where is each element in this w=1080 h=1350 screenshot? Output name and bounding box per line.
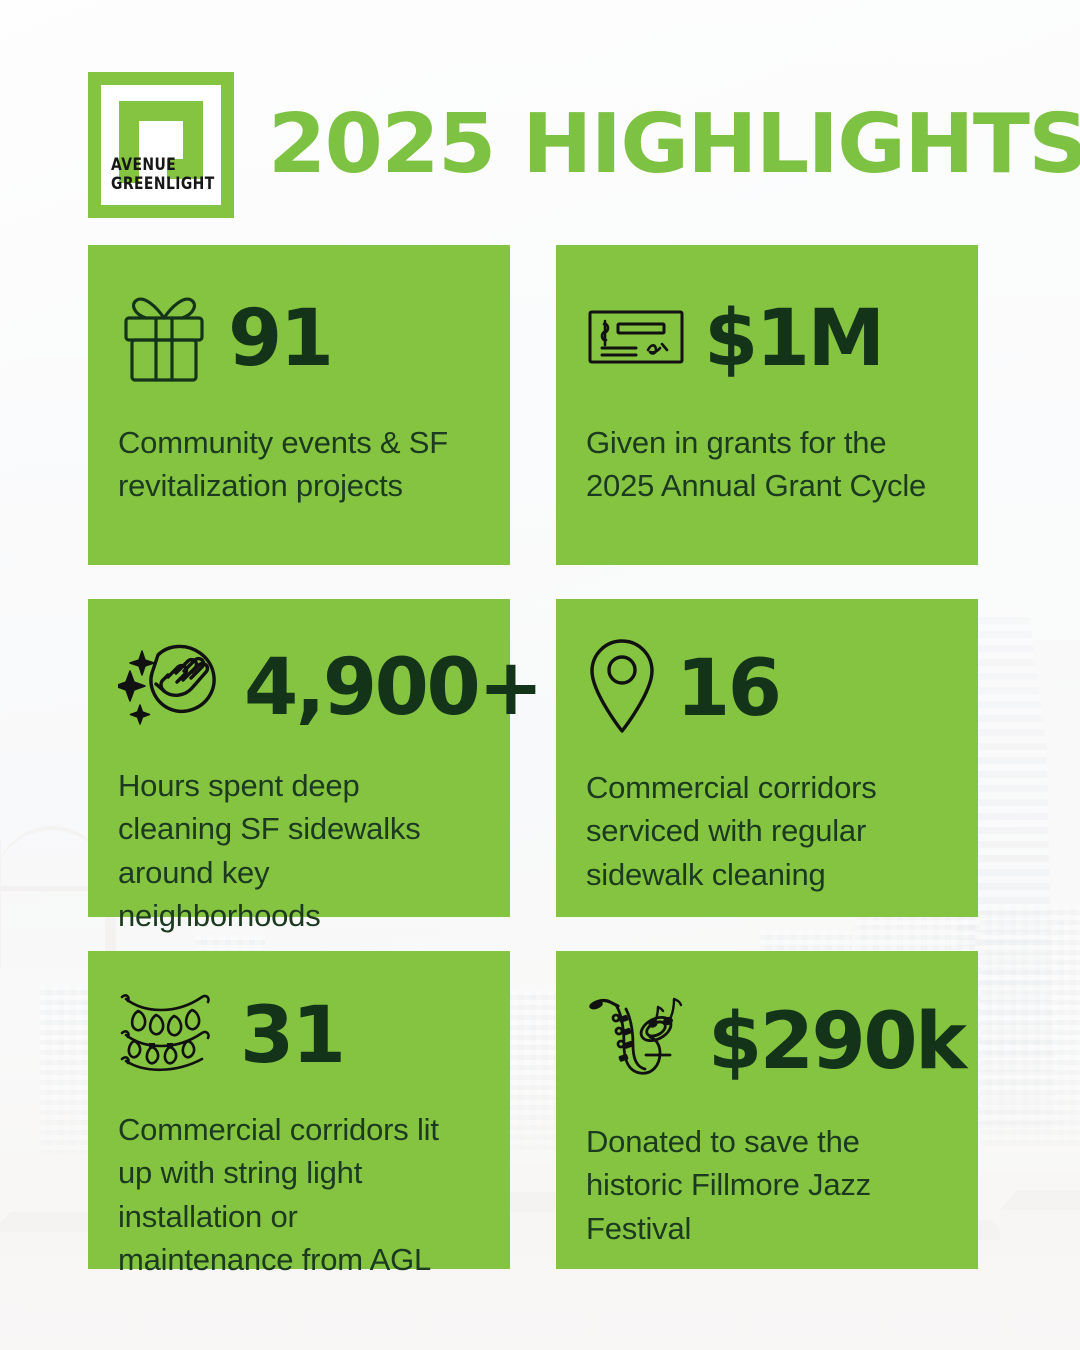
stat-value: $290k bbox=[708, 1003, 964, 1081]
stat-row: 31 bbox=[118, 989, 476, 1082]
stat-card-string-lights[interactable]: 31 Commercial corridors lit up with stri… bbox=[88, 951, 510, 1269]
logo-wordmark: AVENUE GREENLIGHT bbox=[111, 156, 196, 194]
stat-card-grants[interactable]: $1M Given in grants for the 2025 Annual … bbox=[556, 245, 978, 565]
logo-line-1: AVENUE bbox=[111, 156, 196, 175]
stat-description: Given in grants for the 2025 Annual Gran… bbox=[586, 421, 944, 508]
stats-grid: 91 Community events & SF revitalization … bbox=[88, 245, 978, 1269]
stat-description: Hours spent deep cleaning SF sidewalks a… bbox=[118, 764, 476, 938]
stat-card-events[interactable]: 91 Community events & SF revitalization … bbox=[88, 245, 510, 565]
stat-description: Commercial corridors serviced with regul… bbox=[586, 766, 944, 896]
foreground-content: AVENUE GREENLIGHT 2025 HIGHLIGHTS bbox=[0, 0, 1080, 1350]
string-lights-icon bbox=[118, 989, 222, 1082]
stat-row: $1M bbox=[586, 283, 944, 395]
cleaning-hand-sparkle-icon bbox=[118, 637, 226, 738]
avenue-greenlight-logo: AVENUE GREENLIGHT bbox=[88, 72, 234, 218]
logo-line-2: GREENLIGHT bbox=[111, 175, 196, 194]
stat-description: Commercial corridors lit up with string … bbox=[118, 1108, 476, 1282]
stat-description: Community events & SF revitalization pro… bbox=[118, 421, 476, 508]
stat-row: 4,900+ bbox=[118, 637, 476, 738]
stat-row: 91 bbox=[118, 283, 476, 395]
stat-value: 16 bbox=[676, 650, 780, 728]
stat-card-corridors-serviced[interactable]: 16 Commercial corridors serviced with re… bbox=[556, 599, 978, 917]
map-pin-icon bbox=[586, 637, 658, 740]
check-icon bbox=[586, 306, 686, 373]
stat-card-cleaning-hours[interactable]: 4,900+ Hours spent deep cleaning SF side… bbox=[88, 599, 510, 917]
stat-row: 16 bbox=[586, 637, 944, 740]
gift-icon bbox=[118, 288, 210, 391]
stat-card-jazz-festival[interactable]: $290k Donated to save the historic Fillm… bbox=[556, 951, 978, 1269]
stat-description: Donated to save the historic Fillmore Ja… bbox=[586, 1120, 944, 1250]
saxophone-music-icon bbox=[586, 989, 690, 1094]
infographic-page: AVENUE GREENLIGHT 2025 HIGHLIGHTS bbox=[0, 0, 1080, 1350]
stat-row: $290k bbox=[586, 989, 944, 1094]
stat-value: $1M bbox=[704, 300, 883, 378]
page-title: 2025 HIGHLIGHTS bbox=[268, 104, 1080, 186]
stat-value: 4,900+ bbox=[244, 649, 541, 727]
stat-value: 31 bbox=[240, 997, 344, 1075]
header: AVENUE GREENLIGHT 2025 HIGHLIGHTS bbox=[88, 72, 1071, 218]
stat-value: 91 bbox=[228, 300, 332, 378]
